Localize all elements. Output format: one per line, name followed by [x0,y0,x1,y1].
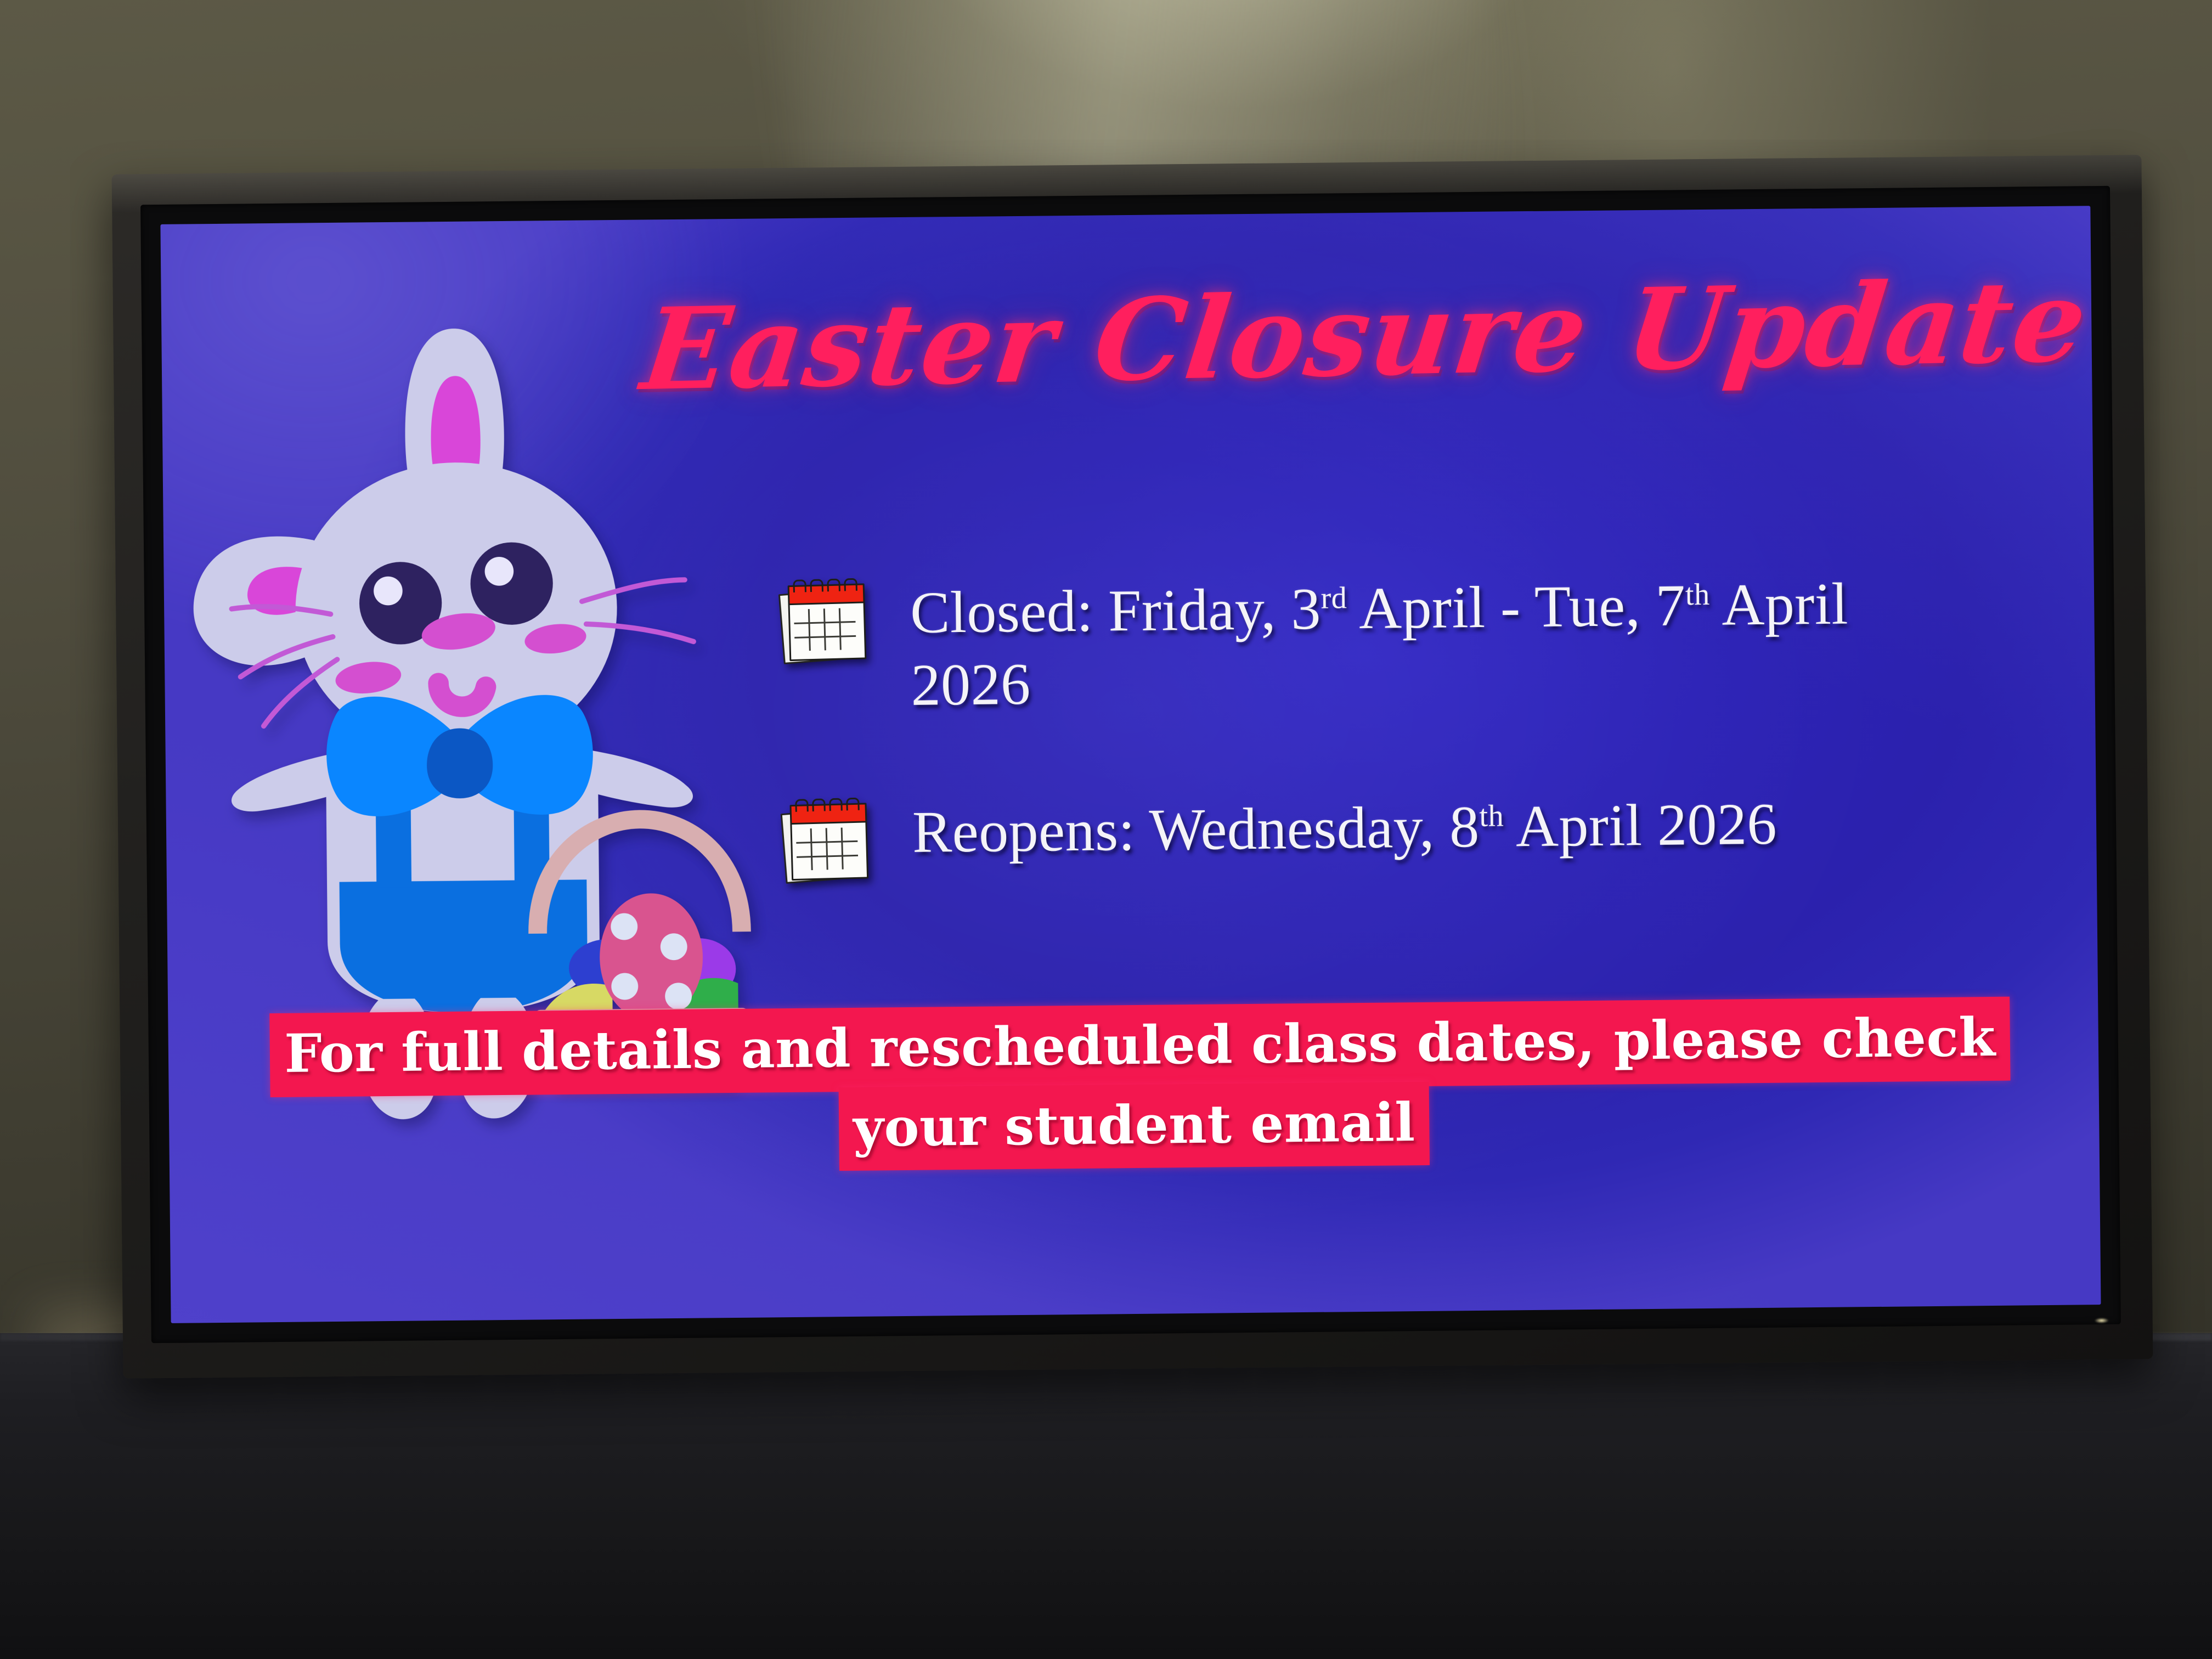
bullet-item-closed: Closed: Friday, 3rd April - Tue, 7th Apr… [778,563,1976,723]
bunny-eye-left-highlight [374,577,403,606]
calendar-icon [780,798,874,884]
closed-ordinal-2: th [1685,578,1710,612]
calendar-icon [777,579,872,664]
footer-text-line-2: your student email [838,1081,1430,1171]
closed-middle: April - Tue, 7 [1347,573,1686,641]
footer-callout: For full details and rescheduled class d… [168,996,2100,1177]
bullet-item-reopens: Reopens: Wednesday, 8th April 2026 [780,783,1977,883]
television: Easter Closure Update Closed: Friday, 3r… [112,155,2153,1378]
closed-prefix: Closed: Friday, 3 [910,577,1322,646]
bunny-eye-right [470,542,554,625]
bunny-bowtie-knot [426,728,493,799]
counter-surface [0,1333,2212,1659]
photo-of-wall-mounted-display: Easter Closure Update Closed: Friday, 3r… [0,0,2212,1659]
bunny-eye-right-highlight [484,557,513,586]
slide-screen: Easter Closure Update Closed: Friday, 3r… [160,206,2101,1323]
footer-text-line-1: For full details and rescheduled class d… [270,997,2010,1097]
bullet-text-closed: Closed: Friday, 3rd April - Tue, 7th Apr… [910,563,1976,721]
reopens-suffix: April 2026 [1504,791,1778,859]
reopens-ordinal-1: th [1479,799,1504,833]
reopens-prefix: Reopens: Wednesday, 8 [912,794,1480,865]
bezel-glint [2095,1318,2109,1323]
closed-ordinal-1: rd [1321,581,1347,615]
bullet-text-reopens: Reopens: Wednesday, 8th April 2026 [912,785,1777,868]
page-title: Easter Closure Update [636,265,1969,410]
bullet-list: Closed: Friday, 3rd April - Tue, 7th Apr… [778,563,1978,954]
